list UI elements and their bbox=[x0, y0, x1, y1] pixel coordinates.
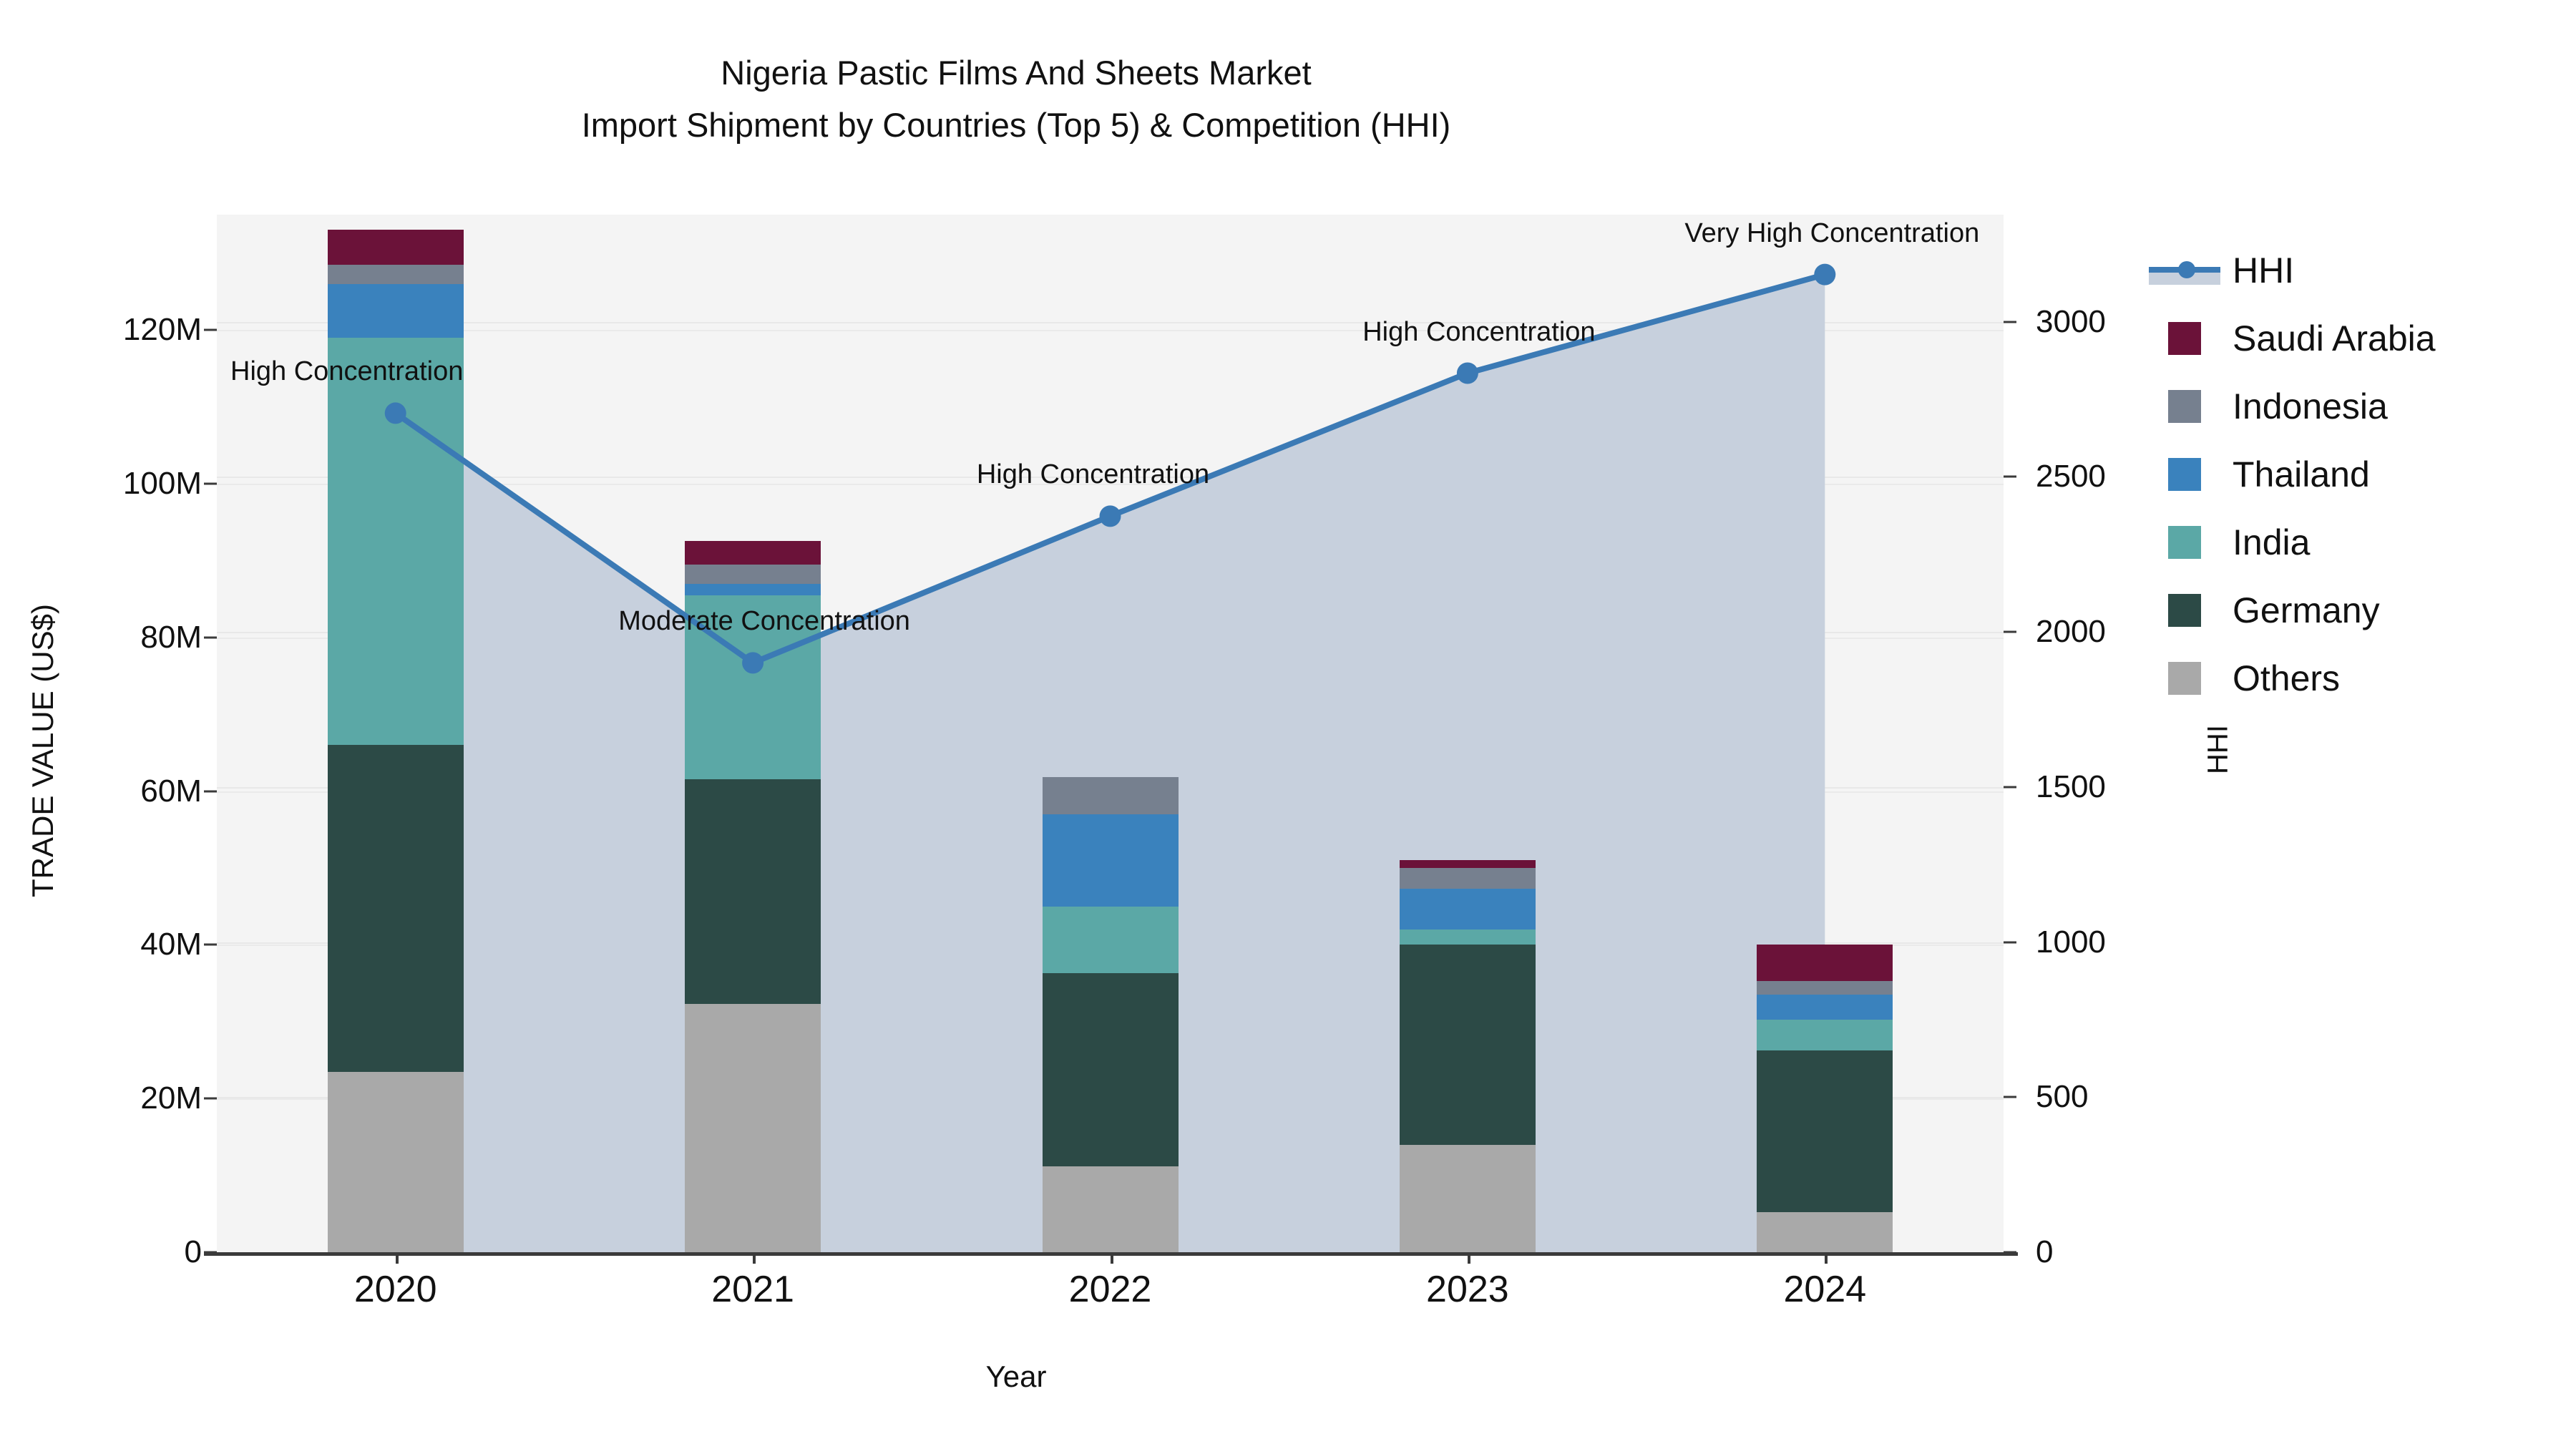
x-tick-2023: 2023 bbox=[1324, 1268, 1611, 1311]
legend-swatch-thailand bbox=[2168, 458, 2201, 491]
y-left-tick-20M: 20M bbox=[0, 1080, 202, 1116]
legend-item-thailand[interactable]: Thailand bbox=[2168, 440, 2436, 508]
x-tick-2022: 2022 bbox=[967, 1268, 1254, 1311]
y-right-tick-1000: 1000 bbox=[2036, 924, 2250, 960]
bar-segment-india-2020[interactable] bbox=[328, 338, 464, 745]
x-tick-2020: 2020 bbox=[253, 1268, 539, 1311]
bar-stack-2024[interactable] bbox=[1757, 215, 1893, 1252]
legend-swatch-others bbox=[2168, 662, 2201, 695]
y-left-tick-0: 0 bbox=[0, 1234, 202, 1270]
bar-segment-others-2024[interactable] bbox=[1757, 1212, 1893, 1252]
x-axis-title: Year bbox=[0, 1360, 2032, 1394]
y-left-tick-100M: 100M bbox=[0, 466, 202, 502]
y-right-tickmark-3000 bbox=[2004, 321, 2016, 323]
chart-root: Nigeria Pastic Films And Sheets Market I… bbox=[0, 0, 2576, 1449]
x-tickmark-2021 bbox=[753, 1252, 756, 1264]
bar-segment-india-2023[interactable] bbox=[1400, 930, 1536, 945]
bar-segment-saudi-arabia-2021[interactable] bbox=[685, 541, 821, 564]
x-tick-2024: 2024 bbox=[1682, 1268, 1968, 1311]
bar-segment-indonesia-2024[interactable] bbox=[1757, 981, 1893, 995]
y-right-tickmark-2000 bbox=[2004, 631, 2016, 633]
y-right-tickmark-1500 bbox=[2004, 786, 2016, 788]
legend-label: Germany bbox=[2233, 590, 2380, 631]
legend-label: Indonesia bbox=[2233, 386, 2388, 427]
hhi-annotation-2020: High Concentration bbox=[230, 356, 463, 387]
bar-segment-saudi-arabia-2024[interactable] bbox=[1757, 945, 1893, 980]
y-right-tickmark-2500 bbox=[2004, 476, 2016, 478]
legend: HHISaudi ArabiaIndonesiaThailandIndiaGer… bbox=[2168, 236, 2436, 712]
legend-item-germany[interactable]: Germany bbox=[2168, 576, 2436, 644]
bar-segment-india-2022[interactable] bbox=[1043, 907, 1179, 973]
x-tick-2021: 2021 bbox=[610, 1268, 896, 1311]
x-tickmark-2024 bbox=[1825, 1252, 1828, 1264]
bar-segment-indonesia-2020[interactable] bbox=[328, 265, 464, 284]
chart-title-line-1: Nigeria Pastic Films And Sheets Market bbox=[0, 56, 2032, 89]
bar-segment-india-2024[interactable] bbox=[1757, 1020, 1893, 1050]
hhi-annotation-2024: Very High Concentration bbox=[1684, 218, 1979, 249]
x-tickmark-2023 bbox=[1468, 1252, 1470, 1264]
y-right-tick-0: 0 bbox=[2036, 1234, 2250, 1270]
x-tickmark-2020 bbox=[396, 1252, 399, 1264]
legend-item-others[interactable]: Others bbox=[2168, 644, 2436, 712]
bar-segment-saudi-arabia-2020[interactable] bbox=[328, 230, 464, 264]
legend-swatch-indonesia bbox=[2168, 390, 2201, 423]
legend-item-indonesia[interactable]: Indonesia bbox=[2168, 372, 2436, 440]
bar-segment-germany-2023[interactable] bbox=[1400, 945, 1536, 1144]
bar-segment-thailand-2022[interactable] bbox=[1043, 814, 1179, 907]
x-tickmark-2022 bbox=[1111, 1252, 1113, 1264]
bar-segment-indonesia-2023[interactable] bbox=[1400, 868, 1536, 889]
bar-segment-indonesia-2022[interactable] bbox=[1043, 777, 1179, 814]
legend-item-india[interactable]: India bbox=[2168, 508, 2436, 576]
bar-segment-thailand-2023[interactable] bbox=[1400, 889, 1536, 930]
legend-label: Saudi Arabia bbox=[2233, 318, 2436, 359]
legend-swatch-saudi-arabia bbox=[2168, 322, 2201, 355]
bar-segment-others-2023[interactable] bbox=[1400, 1145, 1536, 1252]
legend-swatch-germany bbox=[2168, 594, 2201, 627]
bar-segment-indonesia-2021[interactable] bbox=[685, 565, 821, 584]
bar-segment-germany-2024[interactable] bbox=[1757, 1050, 1893, 1213]
legend-line-icon bbox=[2168, 254, 2201, 287]
y-left-tickmark-0 bbox=[204, 1252, 217, 1254]
y-left-tickmark-120M bbox=[204, 329, 217, 331]
legend-label: HHI bbox=[2233, 250, 2294, 291]
y-axis-left-title: TRADE VALUE (US$) bbox=[26, 500, 60, 1001]
bar-stack-2021[interactable] bbox=[685, 215, 821, 1252]
y-right-tick-500: 500 bbox=[2036, 1079, 2250, 1115]
bar-segment-others-2021[interactable] bbox=[685, 1004, 821, 1252]
legend-label: Others bbox=[2233, 658, 2340, 699]
y-left-tickmark-80M bbox=[204, 636, 217, 638]
hhi-annotation-2022: High Concentration bbox=[977, 459, 1209, 490]
legend-item-hhi[interactable]: HHI bbox=[2168, 236, 2436, 304]
bar-segment-germany-2022[interactable] bbox=[1043, 973, 1179, 1166]
hhi-annotation-2023: High Concentration bbox=[1362, 317, 1595, 348]
y-left-tickmark-40M bbox=[204, 944, 217, 946]
bar-segment-saudi-arabia-2023[interactable] bbox=[1400, 860, 1536, 868]
y-right-tickmark-1000 bbox=[2004, 941, 2016, 943]
bar-segment-others-2020[interactable] bbox=[328, 1072, 464, 1252]
y-right-tickmark-0 bbox=[2004, 1252, 2016, 1254]
y-right-tickmark-500 bbox=[2004, 1096, 2016, 1098]
legend-item-saudi-arabia[interactable]: Saudi Arabia bbox=[2168, 304, 2436, 372]
y-left-tickmark-20M bbox=[204, 1098, 217, 1100]
chart-title: Nigeria Pastic Films And Sheets Market I… bbox=[0, 56, 2032, 142]
bar-segment-thailand-2024[interactable] bbox=[1757, 995, 1893, 1019]
y-left-tick-120M: 120M bbox=[0, 312, 202, 348]
legend-line-marker-icon bbox=[2178, 261, 2195, 278]
y-left-tickmark-100M bbox=[204, 482, 217, 484]
hhi-annotation-2021: Moderate Concentration bbox=[618, 606, 910, 637]
bar-segment-germany-2021[interactable] bbox=[685, 779, 821, 1004]
bar-stack-2022[interactable] bbox=[1043, 215, 1179, 1252]
legend-swatch-india bbox=[2168, 526, 2201, 559]
bar-stack-2023[interactable] bbox=[1400, 215, 1536, 1252]
bar-segment-thailand-2020[interactable] bbox=[328, 284, 464, 338]
legend-label: Thailand bbox=[2233, 454, 2370, 495]
legend-label: India bbox=[2233, 522, 2310, 563]
bar-segment-thailand-2021[interactable] bbox=[685, 584, 821, 595]
bar-segment-others-2022[interactable] bbox=[1043, 1166, 1179, 1252]
y-left-tickmark-60M bbox=[204, 790, 217, 792]
bar-segment-germany-2020[interactable] bbox=[328, 745, 464, 1071]
chart-title-line-2: Import Shipment by Countries (Top 5) & C… bbox=[0, 108, 2032, 142]
